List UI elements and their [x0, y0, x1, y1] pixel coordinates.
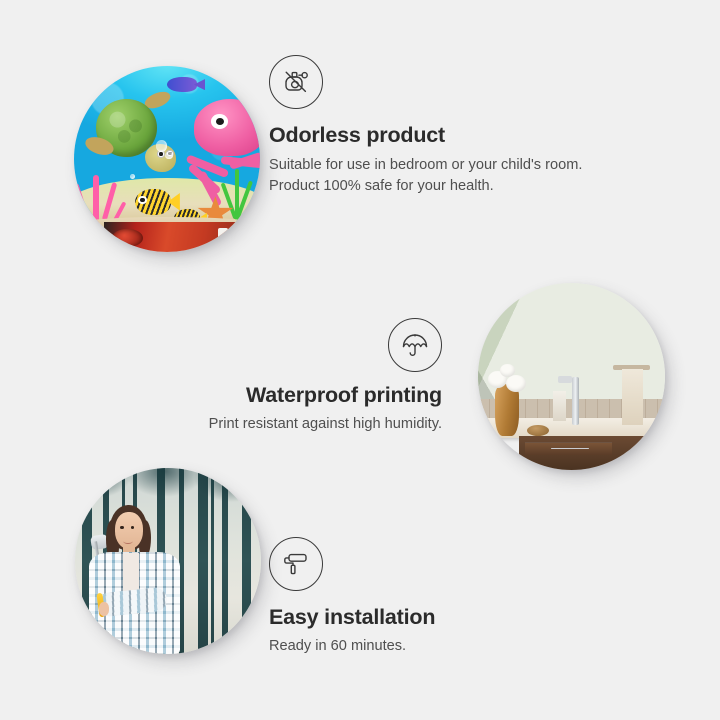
feature-highlights-panel: Odorless product Suitable for use in bed… [0, 0, 720, 720]
feature-title: Waterproof printing [160, 382, 442, 409]
seaweed [223, 166, 253, 222]
yellow-striped-fish [135, 189, 170, 215]
feature-title: Odorless product [269, 122, 609, 149]
feature-description: Suitable for use in bedroom or your chil… [269, 155, 594, 197]
feature-description: Ready in 60 minutes. [269, 636, 569, 657]
room-foreground-strip [104, 222, 245, 252]
no-odor-perfume-bottle-icon [269, 55, 323, 109]
feature-waterproof-printing: Waterproof printing Print resistant agai… [160, 318, 442, 435]
blue-fish [167, 77, 197, 92]
wood-vanity-cabinet [519, 436, 665, 470]
sea-turtle [89, 96, 175, 174]
bathroom-leaf-wallpaper-photo[interactable] [478, 283, 665, 470]
feature-easy-installation: Easy installation Ready in 60 minutes. [269, 537, 569, 657]
umbrella-icon [388, 318, 442, 372]
feature-odorless-product: Odorless product Suitable for use in bed… [269, 55, 609, 197]
white-roses [485, 363, 534, 393]
feature-description: Print resistant against high humidity. [160, 414, 442, 435]
paint-roller-icon [269, 537, 323, 591]
feature-title: Easy installation [269, 604, 569, 631]
bubble [165, 152, 172, 159]
underwater-cartoon-mural-photo[interactable] [74, 66, 260, 252]
faucet [572, 377, 579, 426]
soap-dispenser [553, 391, 566, 421]
bubble [156, 140, 167, 151]
hand-towel [622, 369, 643, 425]
woman-installer [82, 501, 190, 654]
woman-with-paint-roller-forest-wallpaper-photo[interactable] [75, 468, 261, 654]
